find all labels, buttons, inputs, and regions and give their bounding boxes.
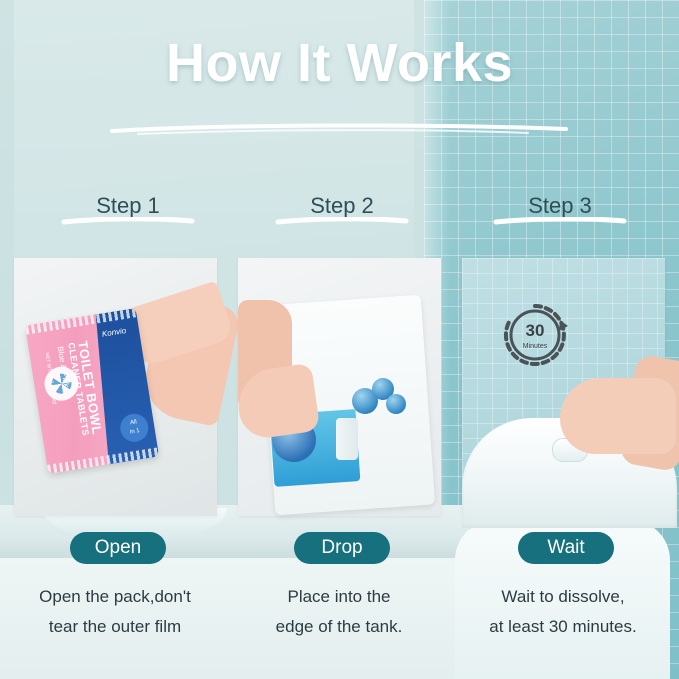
- step-3-caption-line2: at least 30 minutes.: [456, 612, 670, 642]
- step-labels-row: Step 1 Step 2 Step 3: [0, 190, 679, 232]
- step-2-underline-brush: [272, 217, 412, 225]
- tablet-cluster: [352, 378, 412, 422]
- step-2-label-group: Step 2: [272, 190, 412, 225]
- step-3-action-pill: Wait: [518, 532, 614, 564]
- thirty-minutes-badge-icon: 30 Minutes: [500, 300, 570, 370]
- page-title: How It Works: [0, 32, 679, 94]
- step-3-hand: [560, 378, 676, 454]
- tablet-ball-3: [386, 394, 406, 414]
- product-pouch: TOILET BOWL CLEANER TABLETS Blue & Pink …: [25, 308, 159, 474]
- step-1-underline-brush: [58, 217, 198, 225]
- badge-unit: Minutes: [523, 343, 548, 350]
- step-1-action-pill: Open: [70, 532, 166, 564]
- step-3-label: Step 3: [528, 193, 592, 218]
- product-infographic: How It Works Step 1 Step 2 Step 3: [0, 0, 679, 679]
- badge-number: 30: [526, 321, 545, 340]
- step-1-caption-line1: Open the pack,don't: [8, 582, 222, 612]
- step-1-caption-line2: tear the outer film: [8, 612, 222, 642]
- tank-overflow-tube: [336, 418, 358, 460]
- step-2-caption-line1: Place into the: [232, 582, 446, 612]
- step-3-underline-brush: [490, 217, 630, 225]
- title-underline-brush: [108, 122, 570, 136]
- step-1-label: Step 1: [96, 193, 160, 218]
- step-2-caption-line2: edge of the tank.: [232, 612, 446, 642]
- step-3-caption-line1: Wait to dissolve,: [456, 582, 670, 612]
- step-2-label: Step 2: [310, 193, 374, 218]
- step-2-action-pill: Drop: [294, 532, 390, 564]
- step-3-caption: Wait to dissolve, at least 30 minutes.: [456, 582, 670, 642]
- step-1-label-group: Step 1: [58, 190, 198, 225]
- step-1-caption: Open the pack,don't tear the outer film: [8, 582, 222, 642]
- step-2-caption: Place into the edge of the tank.: [232, 582, 446, 642]
- step-3-label-group: Step 3: [490, 190, 630, 225]
